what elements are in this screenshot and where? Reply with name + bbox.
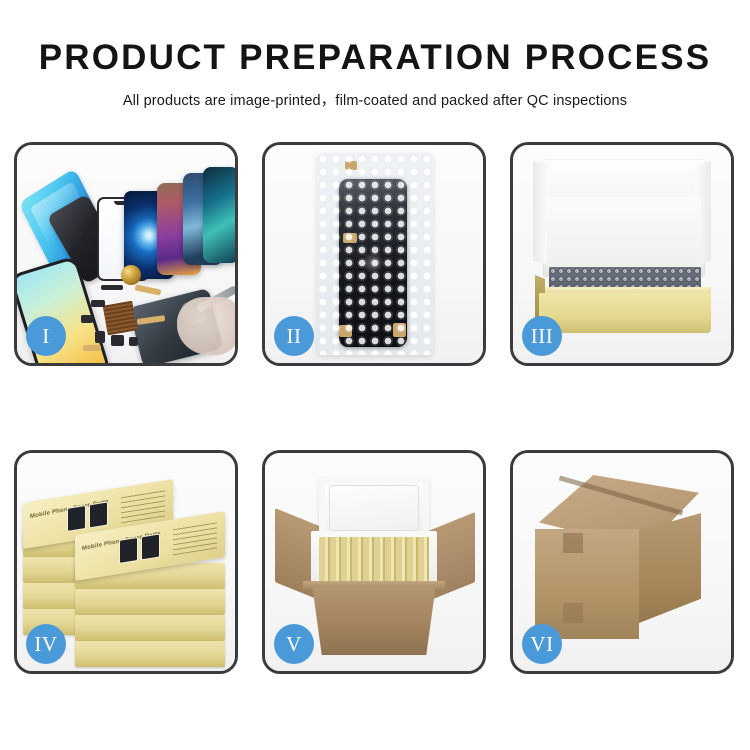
step-badge-2: II [274,316,314,356]
step-badge-1: I [26,316,66,356]
tape-tab [343,233,357,243]
inner-box-stacked [75,615,225,641]
small-part [129,337,138,346]
flex-cable [83,345,101,351]
step-badge-6: VI [522,624,562,664]
foam-lid [319,477,429,539]
box-thumbnail [89,501,108,528]
box-spec-lines [121,488,165,523]
inner-box-front [539,293,711,333]
process-step-6: VI [510,450,734,674]
wrapped-screen-assembly [339,179,407,347]
box-spec-lines [173,520,217,555]
carton-front-face [535,529,639,639]
small-part [91,300,105,307]
flex-cable [135,284,162,295]
tape-tab [339,325,352,337]
small-part [81,315,93,323]
process-step-2: II [262,142,486,366]
small-part [111,335,124,346]
process-step-3: III [510,142,734,366]
hand [177,297,235,355]
small-part [101,285,123,290]
page-subtitle: All products are image-printed，film-coat… [0,89,750,110]
phone-screen-teal [203,167,235,263]
step-badge-4: IV [26,624,66,664]
carton-side [639,513,701,623]
step-badge-5: V [274,624,314,664]
box-thumbnail [141,533,160,560]
process-step-grid: I II III [14,142,736,674]
carton-front [307,587,441,655]
process-step-5: V [262,450,486,674]
box-thumbnail [119,537,138,564]
step-badge-3: III [522,316,562,356]
logic-board-chip [103,301,138,336]
small-part [95,331,105,343]
packed-inner-boxes [319,537,429,581]
box-thumbnail [67,505,86,532]
inner-box-stacked [75,641,225,667]
process-step-4: Mobile Phone Spare Parts Mobile Phone Sp… [14,450,238,674]
speaker-coil [121,265,141,285]
process-step-1: I [14,142,238,366]
page-title: PRODUCT PREPARATION PROCESS [0,38,750,78]
tape-tab [345,161,357,170]
carton-tape-lower [563,603,583,623]
foam-sheet [547,197,701,271]
carton-tape-upper [563,533,583,553]
page-header: PRODUCT PREPARATION PROCESS All products… [0,0,750,110]
bubble-wrap-bag [317,153,433,355]
tape-tab [393,323,406,337]
inner-box-stacked [75,589,225,615]
